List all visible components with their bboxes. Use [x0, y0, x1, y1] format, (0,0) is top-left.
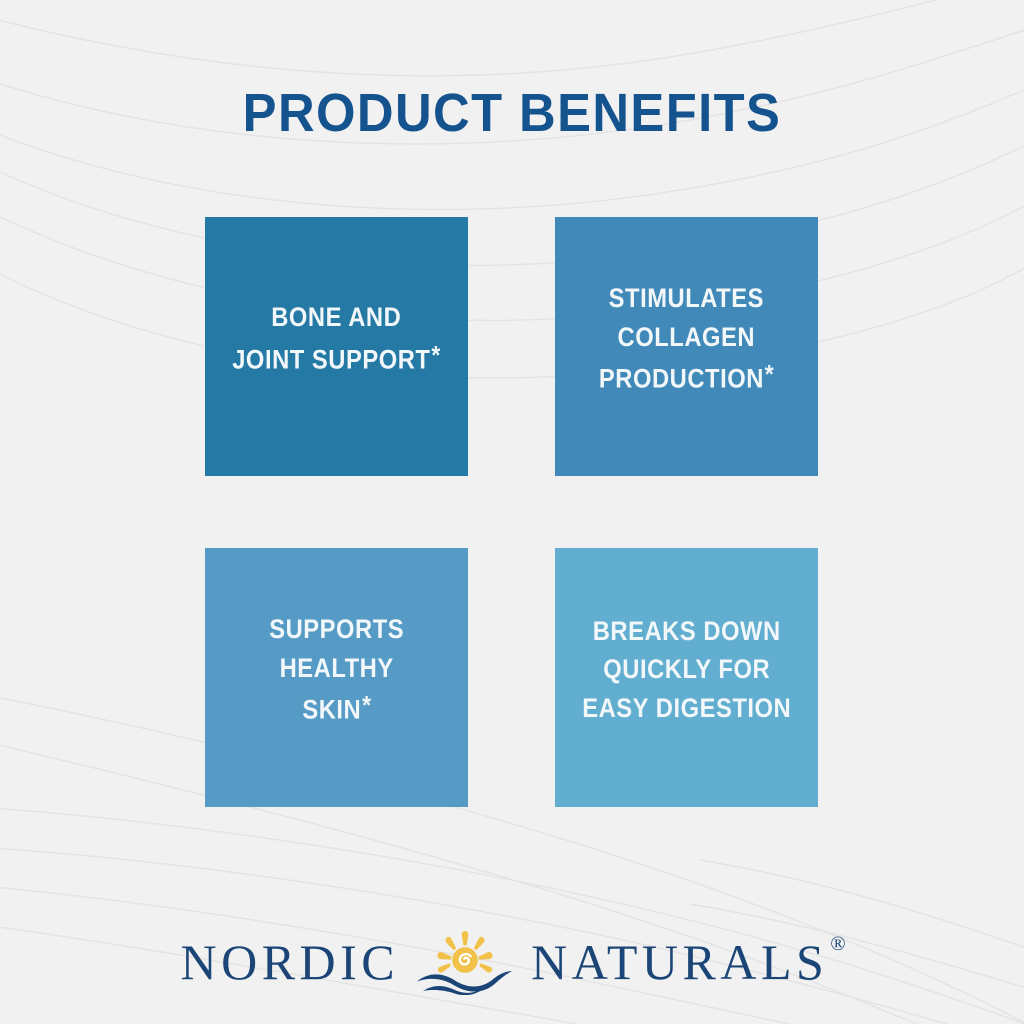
benefit-tile-grid: BONE ANDJOINT SUPPORT* STIMULATESCOLLAGE…	[205, 217, 820, 807]
registered-trademark-symbol: ®	[830, 933, 845, 956]
benefit-tile-stimulates-collagen-production[interactable]: STIMULATESCOLLAGENPRODUCTION*	[555, 217, 818, 476]
benefit-tile-label: BONE ANDJOINT SUPPORT*	[232, 298, 440, 378]
benefit-tile-supports-healthy-skin[interactable]: SUPPORTSHEALTHYSKIN*	[205, 548, 468, 807]
brand-logo: NORDIC NATURALS ®	[0, 922, 1024, 998]
benefit-tile-label: STIMULATESCOLLAGENPRODUCTION*	[599, 279, 774, 398]
brand-word-nordic: NORDIC	[180, 937, 399, 987]
sun-and-wave-logo-mark	[413, 929, 517, 995]
benefit-tile-breaks-down-quickly-for-easy-digestion[interactable]: BREAKS DOWNQUICKLY FOREASY DIGESTION	[555, 548, 818, 807]
brand-word-naturals: NATURALS	[531, 937, 828, 987]
benefit-tile-bone-and-joint-support[interactable]: BONE ANDJOINT SUPPORT*	[205, 217, 468, 476]
page-title: PRODUCT BENEFITS	[31, 82, 994, 144]
benefit-tile-label: SUPPORTSHEALTHYSKIN*	[269, 610, 404, 729]
product-benefits-infographic: PRODUCT BENEFITS BONE ANDJOINT SUPPORT* …	[0, 0, 1024, 1024]
benefit-tile-label: BREAKS DOWNQUICKLY FOREASY DIGESTION	[582, 612, 791, 727]
